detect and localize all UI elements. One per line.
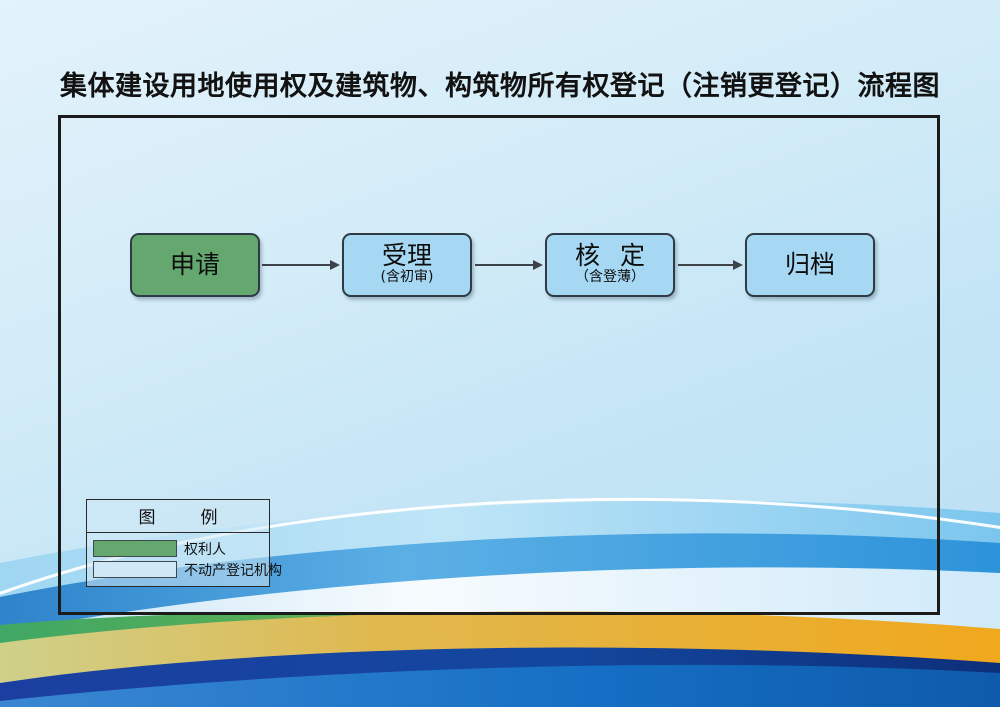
legend-item-rights-holder: 权利人 <box>93 539 263 558</box>
flow-node-accept-sublabel: (含初审) <box>381 270 434 285</box>
legend-label-registry: 不动产登记机构 <box>184 560 282 580</box>
legend-title: 图 例 <box>87 500 269 533</box>
flow-node-approve-label: 核 定 <box>569 243 651 269</box>
legend-body: 权利人 不动产登记机构 <box>87 533 269 586</box>
legend-label-rights-holder: 权利人 <box>184 539 226 559</box>
arrow-right-icon-accept-to-approve <box>475 263 543 267</box>
legend-swatch-blue <box>93 561 177 578</box>
legend-swatch-green <box>93 540 177 557</box>
page-title: 集体建设用地使用权及建筑物、构筑物所有权登记（注销更登记）流程图 <box>0 64 1000 103</box>
flow-node-archive[interactable]: 归档 <box>745 233 875 297</box>
flow-node-approve-sublabel: （含登薄） <box>575 270 645 285</box>
flow-node-apply-label: 申请 <box>170 252 220 278</box>
flow-node-apply[interactable]: 申请 <box>130 233 260 297</box>
arrow-shaft <box>262 264 331 266</box>
arrow-head <box>733 260 743 270</box>
arrow-head <box>533 260 543 270</box>
legend: 图 例 权利人 不动产登记机构 <box>86 499 270 587</box>
arrow-right-icon-approve-to-archive <box>678 263 743 267</box>
flowchart-poster: 集体建设用地使用权及建筑物、构筑物所有权登记（注销更登记）流程图 申请 受理 (… <box>0 0 1000 707</box>
flow-node-accept[interactable]: 受理 (含初审) <box>342 233 472 297</box>
arrow-shaft <box>678 264 734 266</box>
arrow-head <box>330 260 340 270</box>
flow-node-archive-label: 归档 <box>785 252 835 278</box>
legend-item-registry: 不动产登记机构 <box>93 560 263 579</box>
flow-node-accept-label: 受理 <box>382 243 432 269</box>
process-flow: 申请 受理 (含初审) 核 定 （含登薄） 归档 <box>130 233 870 299</box>
arrow-shaft <box>475 264 534 266</box>
arrow-right-icon-apply-to-accept <box>262 263 340 267</box>
flow-node-approve[interactable]: 核 定 （含登薄） <box>545 233 675 297</box>
